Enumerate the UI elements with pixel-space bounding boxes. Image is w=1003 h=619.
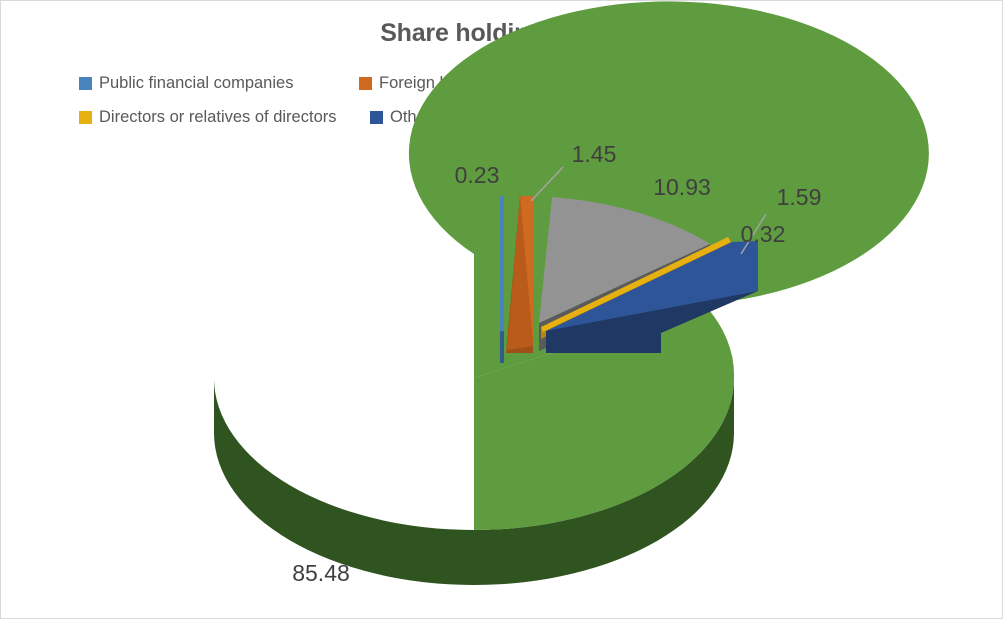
data-label-bodies-corporate: 10.93 xyxy=(653,174,711,200)
pie-chart-plot: 0.23 1.45 10.93 0.32 1.59 85.48 xyxy=(1,1,1003,619)
data-label-public-financial-companies: 0.23 xyxy=(455,162,500,188)
pie-slice-public-financial-companies-depth xyxy=(500,331,504,363)
data-label-others: 85.48 xyxy=(292,560,350,586)
data-label-directors: 0.32 xyxy=(741,221,786,247)
pie-slice-public-financial-companies[interactable] xyxy=(500,196,504,363)
data-label-foreign-holdings: 1.45 xyxy=(572,141,617,167)
chart-container: Share holding patten Public financial co… xyxy=(0,0,1003,619)
data-label-other-top-fifty: 1.59 xyxy=(777,184,822,210)
